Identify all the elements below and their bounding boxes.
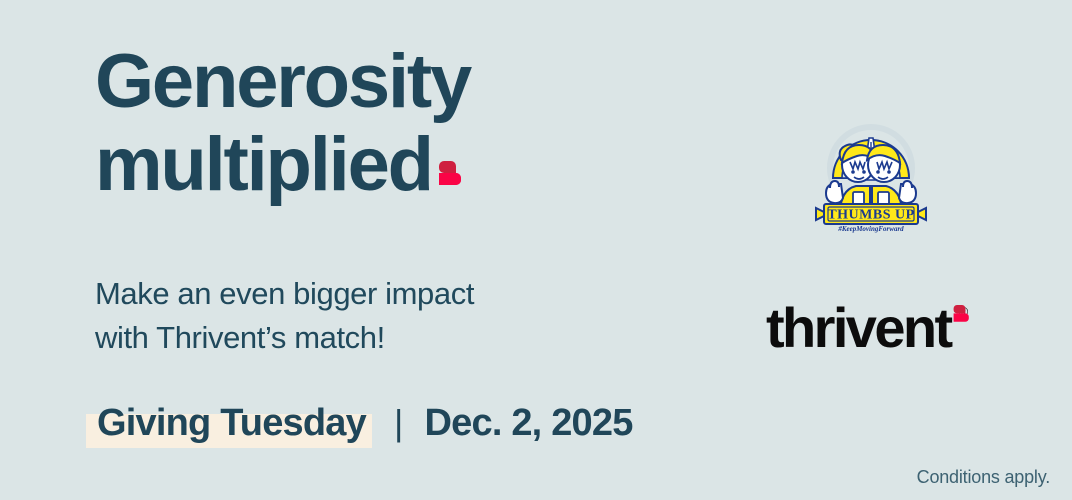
subhead-line-1: Make an even bigger impact [95,272,474,316]
thumbs-up-banner-text: THUMBS UP [827,208,914,223]
promo-banner: Generosity multiplied Make an even bigge… [0,0,1072,500]
thrivent-wordmark: thrivent [766,300,951,356]
thrivent-heart-icon [952,304,974,326]
headline-line-2-text: multiplied [95,122,432,207]
headline-line-1: Generosity [95,46,715,119]
subhead: Make an even bigger impact with Thrivent… [95,272,474,360]
dateline-separator: | [394,402,403,444]
disclaimer-text: Conditions apply. [917,467,1050,488]
event-date: Dec. 2, 2025 [425,402,633,445]
headline-line-2: multiplied [95,129,715,202]
thumbs-up-tagline: #KeepMovingForward [837,225,904,233]
page-title: Generosity multiplied [95,46,715,202]
copy-block: Generosity multiplied Make an even bigge… [95,46,715,202]
heart-icon [436,158,470,192]
thumbs-up-logo: THUMBS UP #KeepMovingForward [806,118,936,236]
thrivent-logo: thrivent ® [766,300,968,358]
subhead-line-2: with Thrivent’s match! [95,316,474,360]
event-dateline: Giving Tuesday | Dec. 2, 2025 [95,398,633,448]
event-name: Giving Tuesday [95,402,368,445]
